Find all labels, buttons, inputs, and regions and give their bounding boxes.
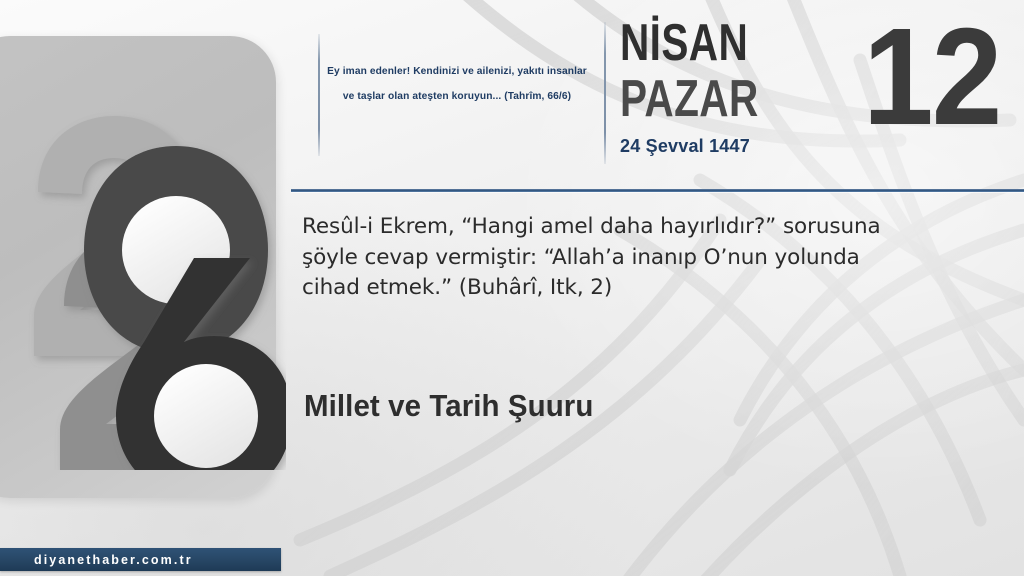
website-bar[interactable]: diyanethaber.com.tr [0, 548, 281, 571]
quran-verse: Ey iman edenler! Kendinizi ve ailenizi, … [326, 60, 588, 110]
day-number: 12 [862, 8, 1000, 146]
hadith-quote: Resûl-i Ekrem, “Hangi amel daha hayırlıd… [302, 212, 942, 304]
hijri-date: 24 Şevval 1447 [620, 136, 860, 157]
verse-divider-left [318, 34, 320, 156]
website-url: diyanethaber.com.tr [34, 553, 193, 567]
quote-line-2: şöyle cevap vermiştir: “Allah’a inanıp O… [302, 243, 942, 274]
header-separator [291, 189, 1024, 192]
calendar-leaf: Ey iman edenler! Kendinizi ve ailenizi, … [0, 0, 1024, 576]
topic-heading: Millet ve Tarih Şuuru [304, 388, 593, 424]
quote-line-1: Resûl-i Ekrem, “Hangi amel daha hayırlıd… [302, 212, 942, 243]
year-logo-2026 [18, 110, 286, 470]
date-block: NİSAN PAZAR 24 Şevval 1447 [620, 18, 860, 157]
verse-divider-right [604, 22, 606, 164]
month-label: NİSAN [620, 18, 807, 69]
quote-line-3: cihad etmek.” (Buhârî, Itk, 2) [302, 273, 942, 304]
verse-line-1: Ey iman edenler! Kendinizi ve ailenizi, … [326, 60, 588, 85]
weekday-label: PAZAR [620, 74, 807, 125]
verse-line-2: ve taşlar olan ateşten koruyun... (Tahrî… [326, 85, 588, 110]
